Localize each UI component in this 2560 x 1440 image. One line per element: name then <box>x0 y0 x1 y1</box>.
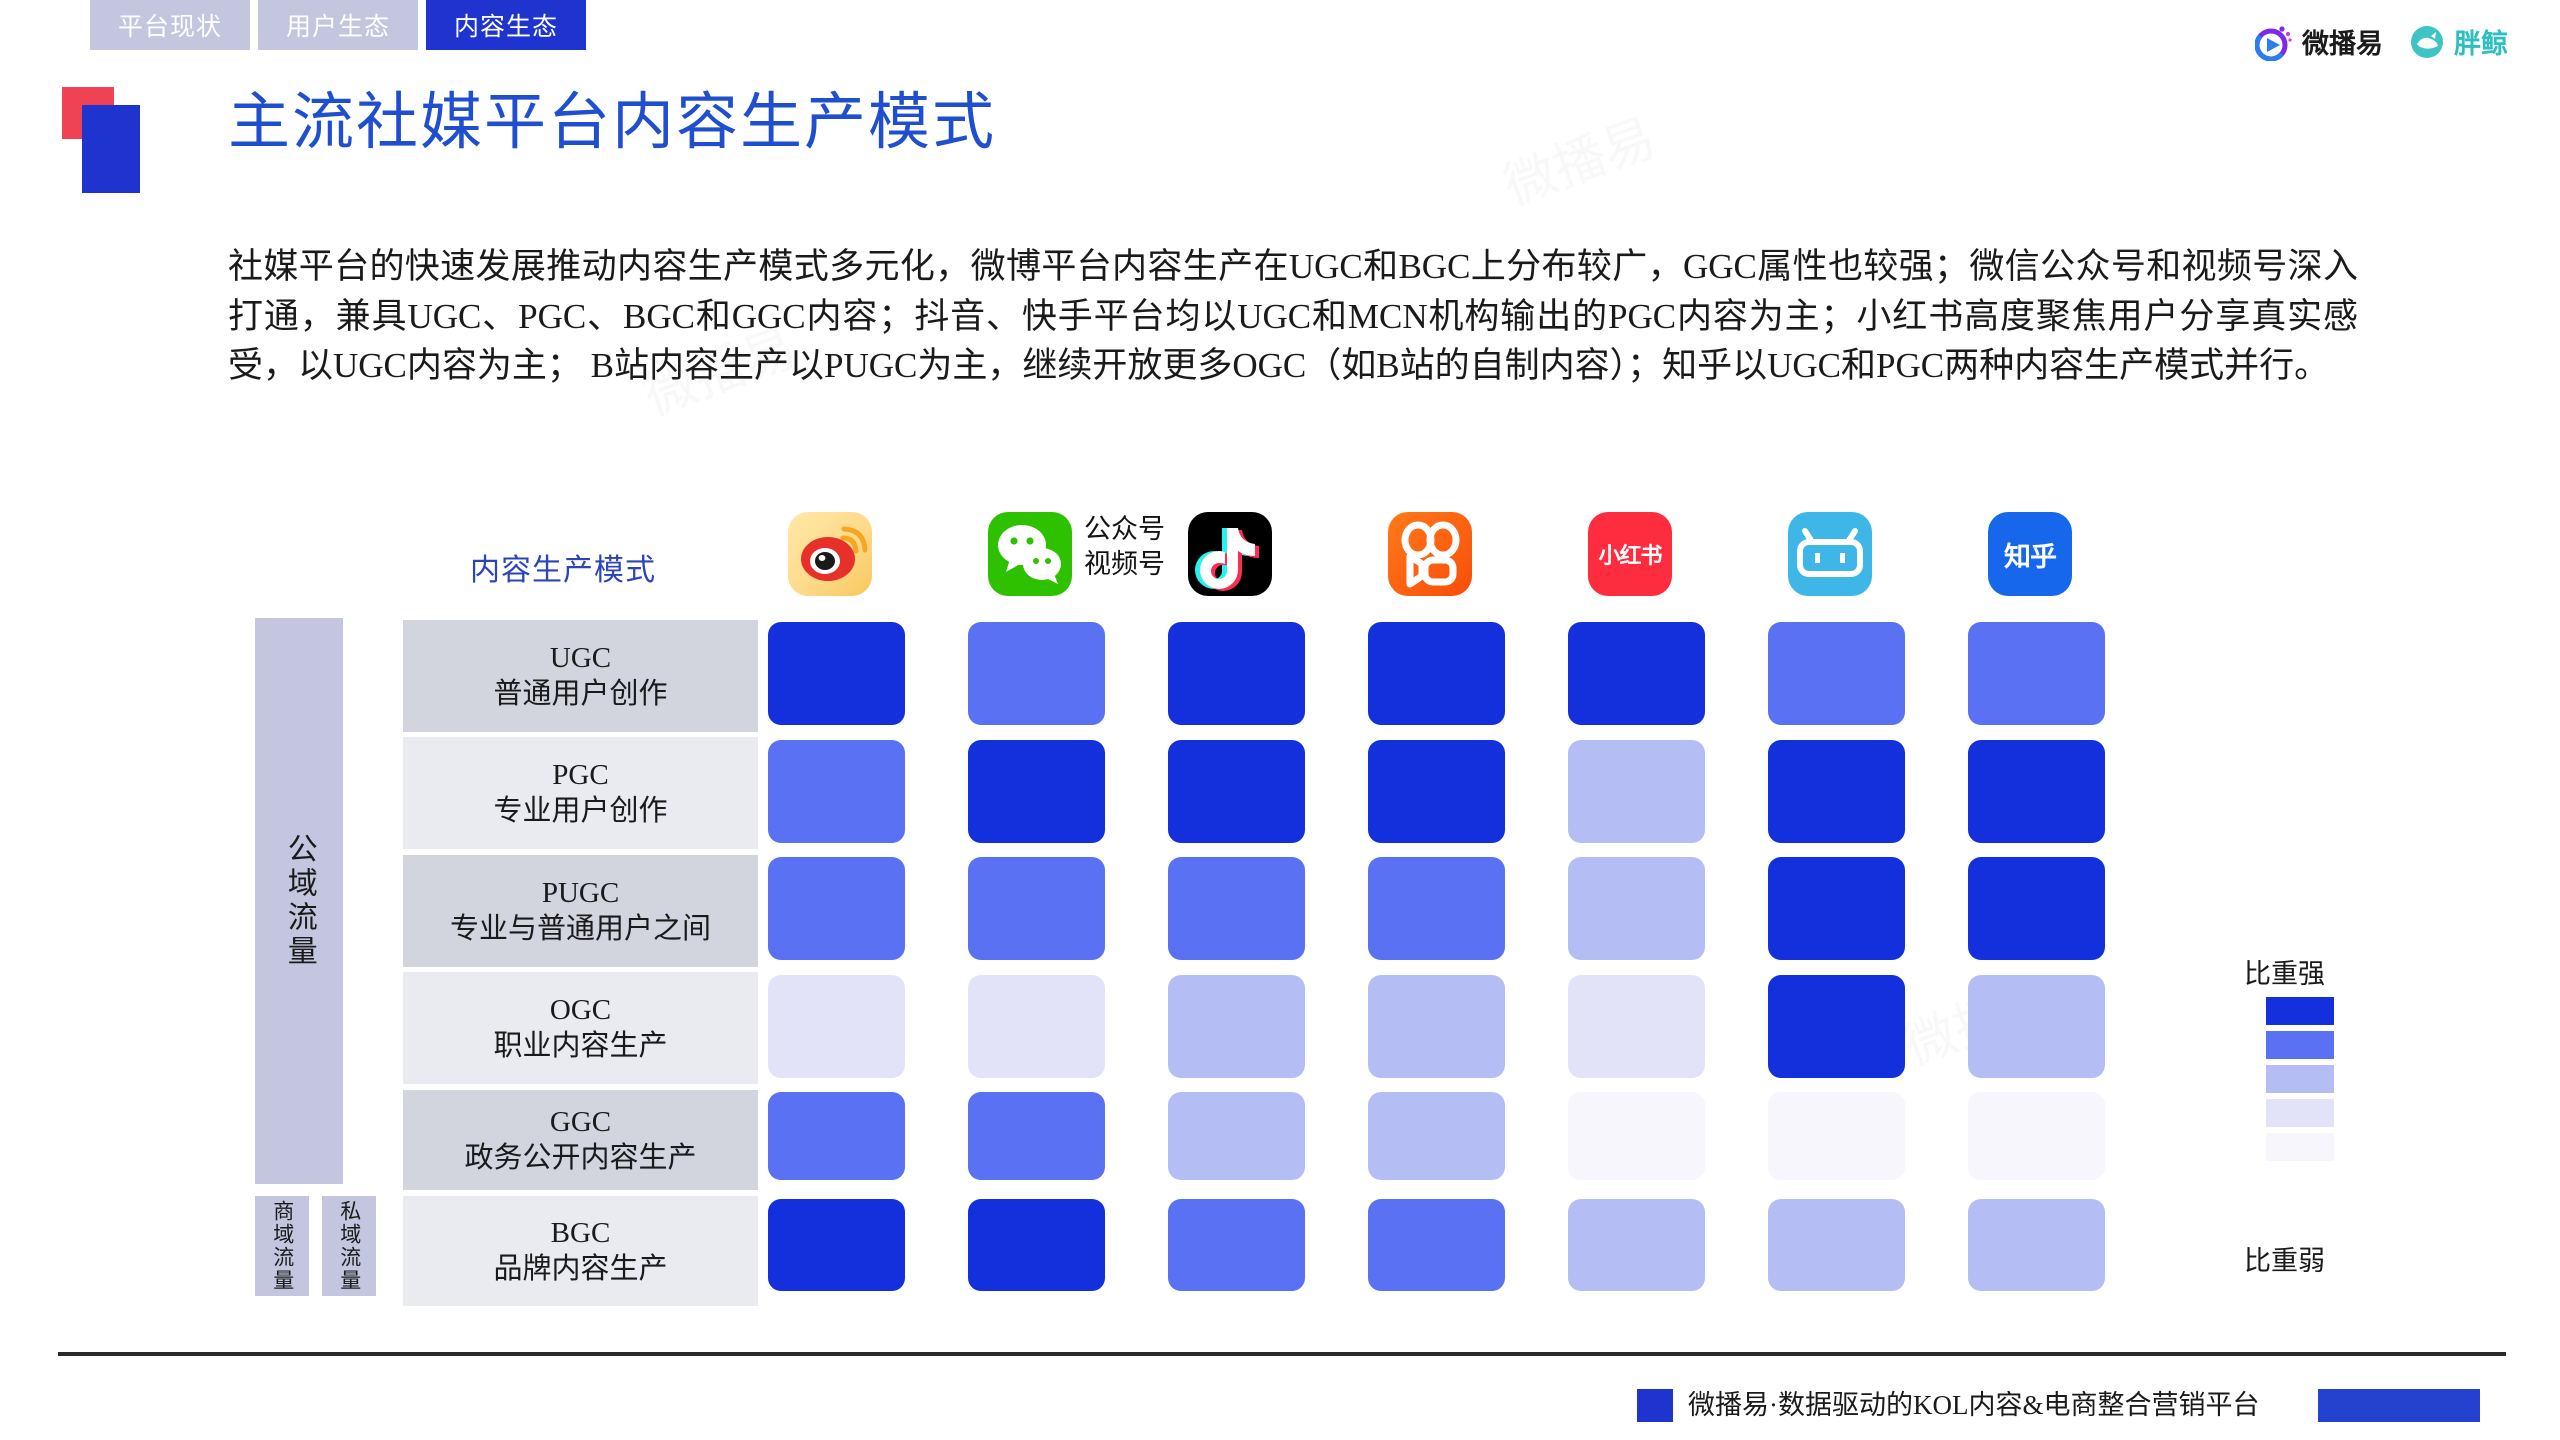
heatmap-cell-ugc-kuaishou[interactable] <box>1368 622 1505 725</box>
legend-low-label: 比重弱 <box>2244 1239 2414 1278</box>
brand-bar: 微播易 胖鲸 <box>2255 22 2508 61</box>
heatmap-cell-pugc-xhs[interactable] <box>1568 857 1705 960</box>
heatmap-cell-ggc-wechat[interactable] <box>968 1092 1105 1180</box>
row-label-ggc[interactable]: GGC政务公开内容生产 <box>403 1090 758 1190</box>
heatmap-cell-pugc-bilibili[interactable] <box>1768 857 1905 960</box>
kuaishou-app-icon <box>1388 512 1472 596</box>
pangjing-logo-icon <box>2409 24 2445 60</box>
heatmap-cell-bgc-wechat[interactable] <box>968 1199 1105 1291</box>
heatmap-cell-bgc-douyin[interactable] <box>1168 1199 1305 1291</box>
column-header-xhs[interactable]: 小红书 <box>1588 512 1672 596</box>
brand-weiboyi: 微播易 <box>2255 22 2383 61</box>
heatmap-cell-bgc-xhs[interactable] <box>1568 1199 1705 1291</box>
heatmap-cell-ggc-kuaishou[interactable] <box>1368 1092 1505 1180</box>
heatmap-cell-pugc-weibo[interactable] <box>768 857 905 960</box>
legend-high-label: 比重强 <box>2244 952 2414 991</box>
top-tab-strip: 平台现状 用户生态 内容生态 <box>90 0 586 50</box>
footer-text: 微播易·数据驱动的KOL内容&电商整合营销平台 <box>1688 1383 2259 1422</box>
tab-label: 平台现状 <box>118 7 222 43</box>
wechat-sub-label-line: 视频号 <box>1084 547 1165 582</box>
heatmap-cell-ogc-wechat[interactable] <box>968 975 1105 1078</box>
footer-square-right <box>2318 1389 2480 1422</box>
row-description: 政务公开内容生产 <box>464 1140 696 1176</box>
heatmap-cell-ugc-weibo[interactable] <box>768 622 905 725</box>
heatmap-cell-ogc-douyin[interactable] <box>1168 975 1305 1078</box>
column-header-wechat[interactable]: 公众号视频号 <box>988 512 1072 596</box>
wechat-sub-labels: 公众号视频号 <box>1084 512 1165 581</box>
tab-label: 用户生态 <box>286 7 390 43</box>
douyin-app-icon <box>1188 512 1272 596</box>
heatmap-cell-ogc-weibo[interactable] <box>768 975 905 1078</box>
tab-user-ecosystem[interactable]: 用户生态 <box>258 0 418 50</box>
row-description: 普通用户创作 <box>493 676 667 712</box>
row-code: PUGC <box>542 875 619 911</box>
legend-swatch-level-3 <box>2266 1065 2334 1093</box>
watermark: 微播易 <box>1492 96 1664 220</box>
column-header-kuaishou[interactable] <box>1388 512 1472 596</box>
legend-swatch-level-2 <box>2266 1099 2334 1127</box>
column-header-weibo[interactable] <box>788 512 872 596</box>
legend-swatch-level-5 <box>2266 997 2334 1025</box>
heatmap-cell-ogc-kuaishou[interactable] <box>1368 975 1505 1078</box>
legend: 比重强 比重弱 <box>2244 952 2414 1278</box>
column-header-douyin[interactable] <box>1188 512 1272 596</box>
intro-paragraph: 社媒平台的快速发展推动内容生产模式多元化，微博平台内容生产在UGC和BGC上分布… <box>228 242 2358 391</box>
footer-square-left <box>1637 1389 1673 1422</box>
heatmap-cell-pugc-wechat[interactable] <box>968 857 1105 960</box>
heatmap-cell-ogc-zhihu[interactable] <box>1968 975 2105 1078</box>
row-description: 品牌内容生产 <box>493 1251 667 1287</box>
heatmap-cell-pgc-wechat[interactable] <box>968 740 1105 843</box>
heatmap-cell-ggc-weibo[interactable] <box>768 1092 905 1180</box>
spine-private-domain: 私域流量 <box>322 1196 376 1296</box>
tab-label: 内容生态 <box>454 7 558 43</box>
heatmap-cell-ggc-xhs[interactable] <box>1568 1092 1705 1180</box>
heatmap-cell-pgc-douyin[interactable] <box>1168 740 1305 843</box>
brand-name-pangjing: 胖鲸 <box>2454 22 2508 61</box>
tab-content-ecosystem[interactable]: 内容生态 <box>426 0 586 50</box>
row-code: GGC <box>550 1104 611 1140</box>
brand-name-weiboyi: 微播易 <box>2302 22 2383 61</box>
spine-public-domain: 公域流量 <box>255 618 343 1184</box>
heatmap-cell-pugc-kuaishou[interactable] <box>1368 857 1505 960</box>
heatmap-cell-bgc-weibo[interactable] <box>768 1199 905 1291</box>
zhihu-app-icon: 知乎 <box>1988 512 2072 596</box>
legend-swatch-level-1 <box>2266 1133 2334 1161</box>
spine-business-domain: 商域流量 <box>255 1196 309 1296</box>
brand-pangjing: 胖鲸 <box>2409 22 2508 61</box>
legend-swatch-list <box>2244 997 2414 1161</box>
heatmap-cell-ogc-bilibili[interactable] <box>1768 975 1905 1078</box>
legend-swatch-level-4 <box>2266 1031 2334 1059</box>
row-label-pugc[interactable]: PUGC专业与普通用户之间 <box>403 855 758 967</box>
wechat-app-icon <box>988 512 1072 596</box>
row-code: BGC <box>551 1215 611 1251</box>
wechat-sub-label-line: 公众号 <box>1084 512 1165 547</box>
weibo-app-icon <box>788 512 872 596</box>
heatmap-cell-pgc-xhs[interactable] <box>1568 740 1705 843</box>
heatmap-cell-pgc-bilibili[interactable] <box>1768 740 1905 843</box>
heatmap-cell-pugc-zhihu[interactable] <box>1968 857 2105 960</box>
heatmap-cell-pugc-douyin[interactable] <box>1168 857 1305 960</box>
heatmap-cell-bgc-zhihu[interactable] <box>1968 1199 2105 1291</box>
heatmap-cell-ugc-douyin[interactable] <box>1168 622 1305 725</box>
heatmap-cell-ugc-zhihu[interactable] <box>1968 622 2105 725</box>
heatmap-cell-ogc-xhs[interactable] <box>1568 975 1705 1078</box>
heatmap-cell-bgc-bilibili[interactable] <box>1768 1199 1905 1291</box>
heatmap-cell-ggc-douyin[interactable] <box>1168 1092 1305 1180</box>
row-label-pgc[interactable]: PGC专业用户创作 <box>403 737 758 849</box>
row-description: 专业与普通用户之间 <box>450 911 711 947</box>
row-code: PGC <box>552 757 608 793</box>
row-label-ugc[interactable]: UGC普通用户创作 <box>403 620 758 732</box>
heatmap-cell-ugc-wechat[interactable] <box>968 622 1105 725</box>
title-accent-blue-square <box>82 105 140 193</box>
row-code: OGC <box>550 992 611 1028</box>
bilibili-app-icon <box>1788 512 1872 596</box>
heatmap-cell-ggc-bilibili[interactable] <box>1768 1092 1905 1180</box>
heatmap-cell-pgc-zhihu[interactable] <box>1968 740 2105 843</box>
row-code: UGC <box>550 640 611 676</box>
heatmap-cell-pgc-kuaishou[interactable] <box>1368 740 1505 843</box>
heatmap-cell-pgc-weibo[interactable] <box>768 740 905 843</box>
row-label-ogc[interactable]: OGC职业内容生产 <box>403 972 758 1084</box>
matrix-header-label: 内容生产模式 <box>470 545 656 589</box>
page-title: 主流社媒平台内容生产模式 <box>228 92 996 154</box>
tab-platform-status[interactable]: 平台现状 <box>90 0 250 50</box>
heatmap-cell-ggc-zhihu[interactable] <box>1968 1092 2105 1180</box>
row-description: 专业用户创作 <box>493 793 667 829</box>
xiaohongshu-app-icon: 小红书 <box>1588 512 1672 596</box>
heatmap-cell-ugc-bilibili[interactable] <box>1768 622 1905 725</box>
weiboyi-logo-icon <box>2255 23 2293 61</box>
row-description: 职业内容生产 <box>493 1028 667 1064</box>
footer-divider <box>58 1352 2506 1356</box>
column-header-bilibili[interactable] <box>1788 512 1872 596</box>
column-header-zhihu[interactable]: 知乎 <box>1988 512 2072 596</box>
heatmap-cell-bgc-kuaishou[interactable] <box>1368 1199 1505 1291</box>
heatmap-cell-ugc-xhs[interactable] <box>1568 622 1705 725</box>
row-label-bgc[interactable]: BGC品牌内容生产 <box>403 1196 758 1306</box>
